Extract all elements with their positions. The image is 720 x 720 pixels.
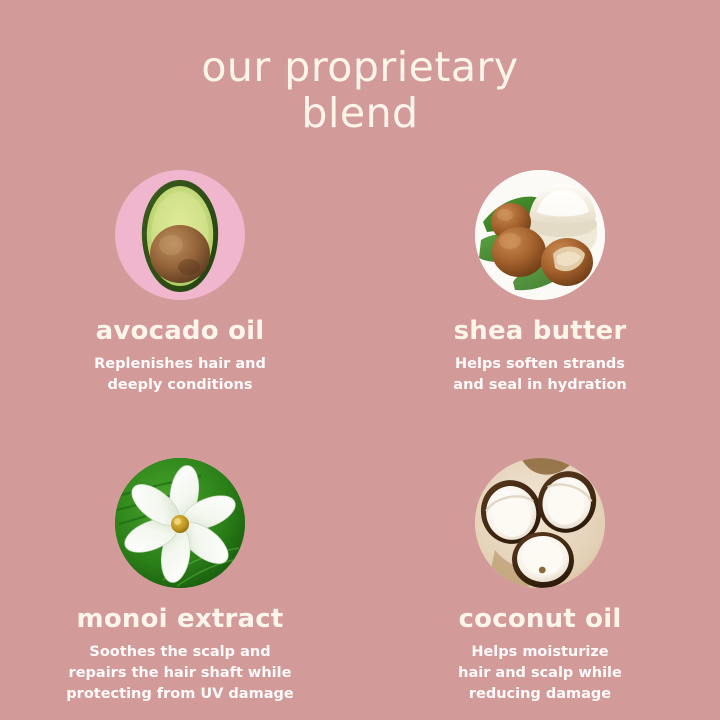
ingredient-title: monoi extract (77, 604, 284, 634)
ingredient-description: Soothes the scalp and repairs the hair s… (66, 642, 293, 705)
ingredient-description: Replenishes hair and deeply conditions (94, 354, 266, 396)
ingredient-row-1: avocado oil Replenishes hair and deeply … (0, 170, 720, 396)
page-title: our proprietary blend (0, 44, 720, 136)
ingredient-description: Helps moisturize hair and scalp while re… (458, 642, 622, 705)
ingredient-card-shea-butter: shea butter Helps soften strands and sea… (360, 170, 720, 396)
ingredient-grid: avocado oil Replenishes hair and deeply … (0, 170, 720, 705)
title-line-2: blend (0, 90, 720, 136)
ingredient-benefits-poster: our proprietary blend (0, 0, 720, 720)
tiare-flower-icon (115, 458, 245, 588)
avocado-half-icon (115, 170, 245, 300)
ingredient-title: avocado oil (96, 316, 265, 346)
title-line-1: our proprietary (0, 44, 720, 90)
ingredient-row-2: monoi extract Soothes the scalp and repa… (0, 458, 720, 705)
ingredient-description: Helps soften strands and seal in hydrati… (453, 354, 626, 396)
ingredient-title: coconut oil (459, 604, 622, 634)
ingredient-title: shea butter (454, 316, 627, 346)
ingredient-card-monoi-extract: monoi extract Soothes the scalp and repa… (0, 458, 360, 705)
shea-nuts-and-butter-bowl-icon (475, 170, 605, 300)
ingredient-card-avocado-oil: avocado oil Replenishes hair and deeply … (0, 170, 360, 396)
coconut-halves-icon (475, 458, 605, 588)
ingredient-card-coconut-oil: coconut oil Helps moisturize hair and sc… (360, 458, 720, 705)
